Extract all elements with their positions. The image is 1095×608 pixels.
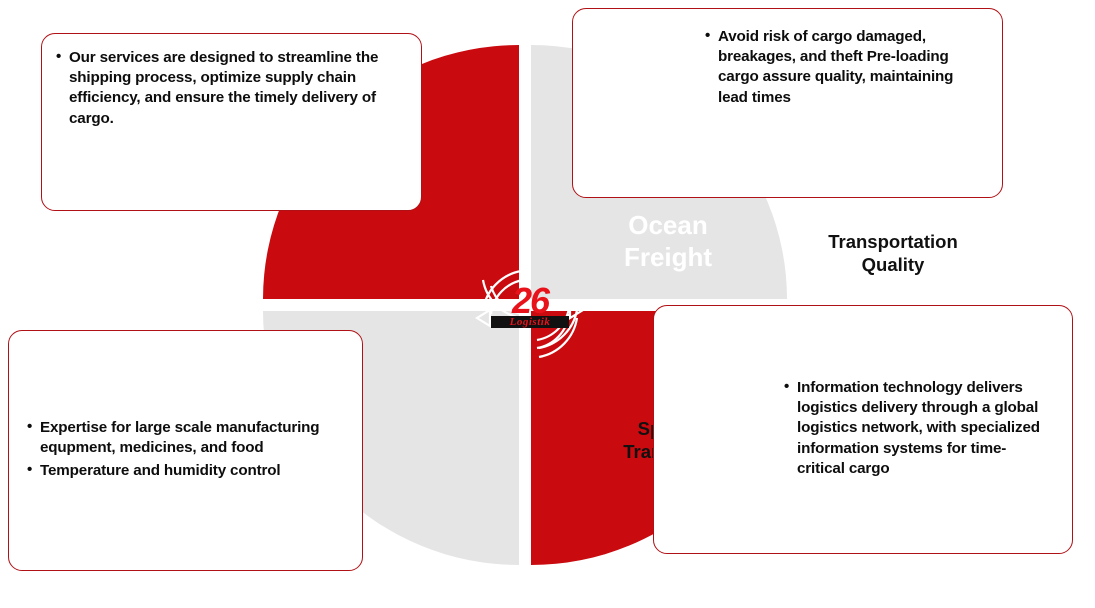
list-item: Our services are designed to streamline … [56, 48, 405, 129]
list-item: Expertise for large scale manufacturing … [27, 418, 344, 458]
list-item: Temperature and humidity control [27, 461, 344, 481]
diagram-canvas: Ocean Freight Transportation Quality Spe… [0, 0, 1095, 608]
callout-transportation-quality: Avoid risk of cargo damaged, breakages, … [572, 8, 1003, 198]
bullet-list: Avoid risk of cargo damaged, breakages, … [705, 27, 972, 110]
callout-it-transportation: Information technology delivers logistic… [653, 305, 1073, 554]
segment-label-transportation-quality: Transportation Quality [793, 231, 993, 276]
bullet-list: Expertise for large scale manufacturing … [27, 418, 344, 483]
bullet-list: Information technology delivers logistic… [784, 378, 1046, 481]
list-item: Avoid risk of cargo damaged, breakages, … [705, 27, 972, 108]
segment-label-ocean-freight: Ocean Freight [573, 210, 763, 273]
bullet-list: Our services are designed to streamline … [56, 48, 405, 131]
callout-specialized-transportation: Expertise for large scale manufacturing … [8, 330, 363, 571]
callout-ocean-freight: Our services are designed to streamline … [41, 33, 422, 211]
list-item: Information technology delivers logistic… [784, 378, 1046, 479]
